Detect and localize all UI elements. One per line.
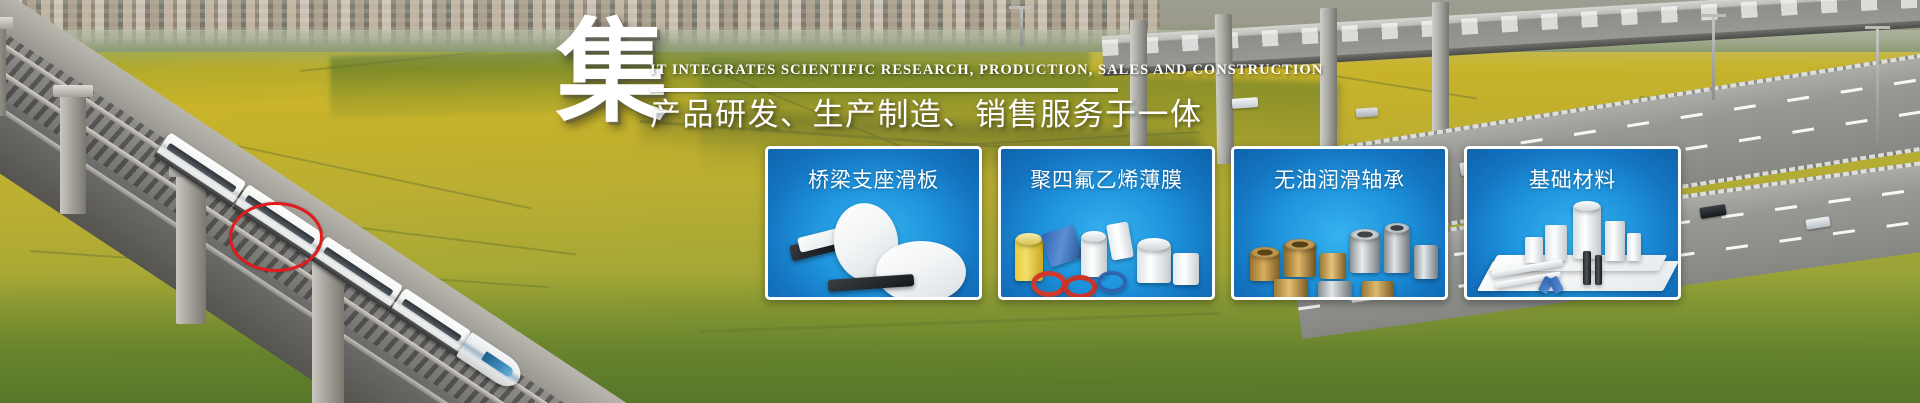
product-card-image-base-materials bbox=[1467, 199, 1678, 297]
viaduct-pier bbox=[0, 26, 6, 116]
product-card-oil-free-bearing[interactable]: 无油润滑轴承 bbox=[1231, 146, 1448, 300]
product-card-ptfe-film[interactable]: 聚四氟乙烯薄膜 bbox=[998, 146, 1215, 300]
car bbox=[1356, 107, 1379, 118]
product-card-list: 桥梁支座滑板 聚四氟乙烯薄膜 bbox=[765, 146, 1681, 294]
highway-column bbox=[1320, 8, 1337, 168]
product-card-title: 无油润滑轴承 bbox=[1234, 164, 1445, 194]
product-card-image-bridge-bearing bbox=[768, 199, 979, 297]
utility-pole bbox=[1876, 26, 1879, 146]
product-card-bridge-bearing[interactable]: 桥梁支座滑板 bbox=[765, 146, 982, 300]
product-card-base-materials[interactable]: 基础材料 bbox=[1464, 146, 1681, 300]
utility-pole bbox=[1020, 6, 1023, 46]
viaduct-pier bbox=[60, 94, 86, 214]
product-card-image-oil-free-bearing bbox=[1234, 199, 1445, 297]
hero-banner: 集 IT INTEGRATES SCIENTIFIC RESEARCH, PRO… bbox=[0, 0, 1920, 403]
utility-pole bbox=[1712, 14, 1715, 100]
product-card-title: 基础材料 bbox=[1467, 164, 1678, 194]
product-card-image-ptfe-film bbox=[1001, 199, 1212, 297]
red-highlight-circle bbox=[229, 202, 323, 272]
product-card-title: 聚四氟乙烯薄膜 bbox=[1001, 164, 1212, 194]
highway-column bbox=[1130, 20, 1147, 150]
car bbox=[1232, 97, 1259, 109]
highway-column bbox=[1215, 14, 1235, 164]
product-card-title: 桥梁支座滑板 bbox=[768, 164, 979, 194]
